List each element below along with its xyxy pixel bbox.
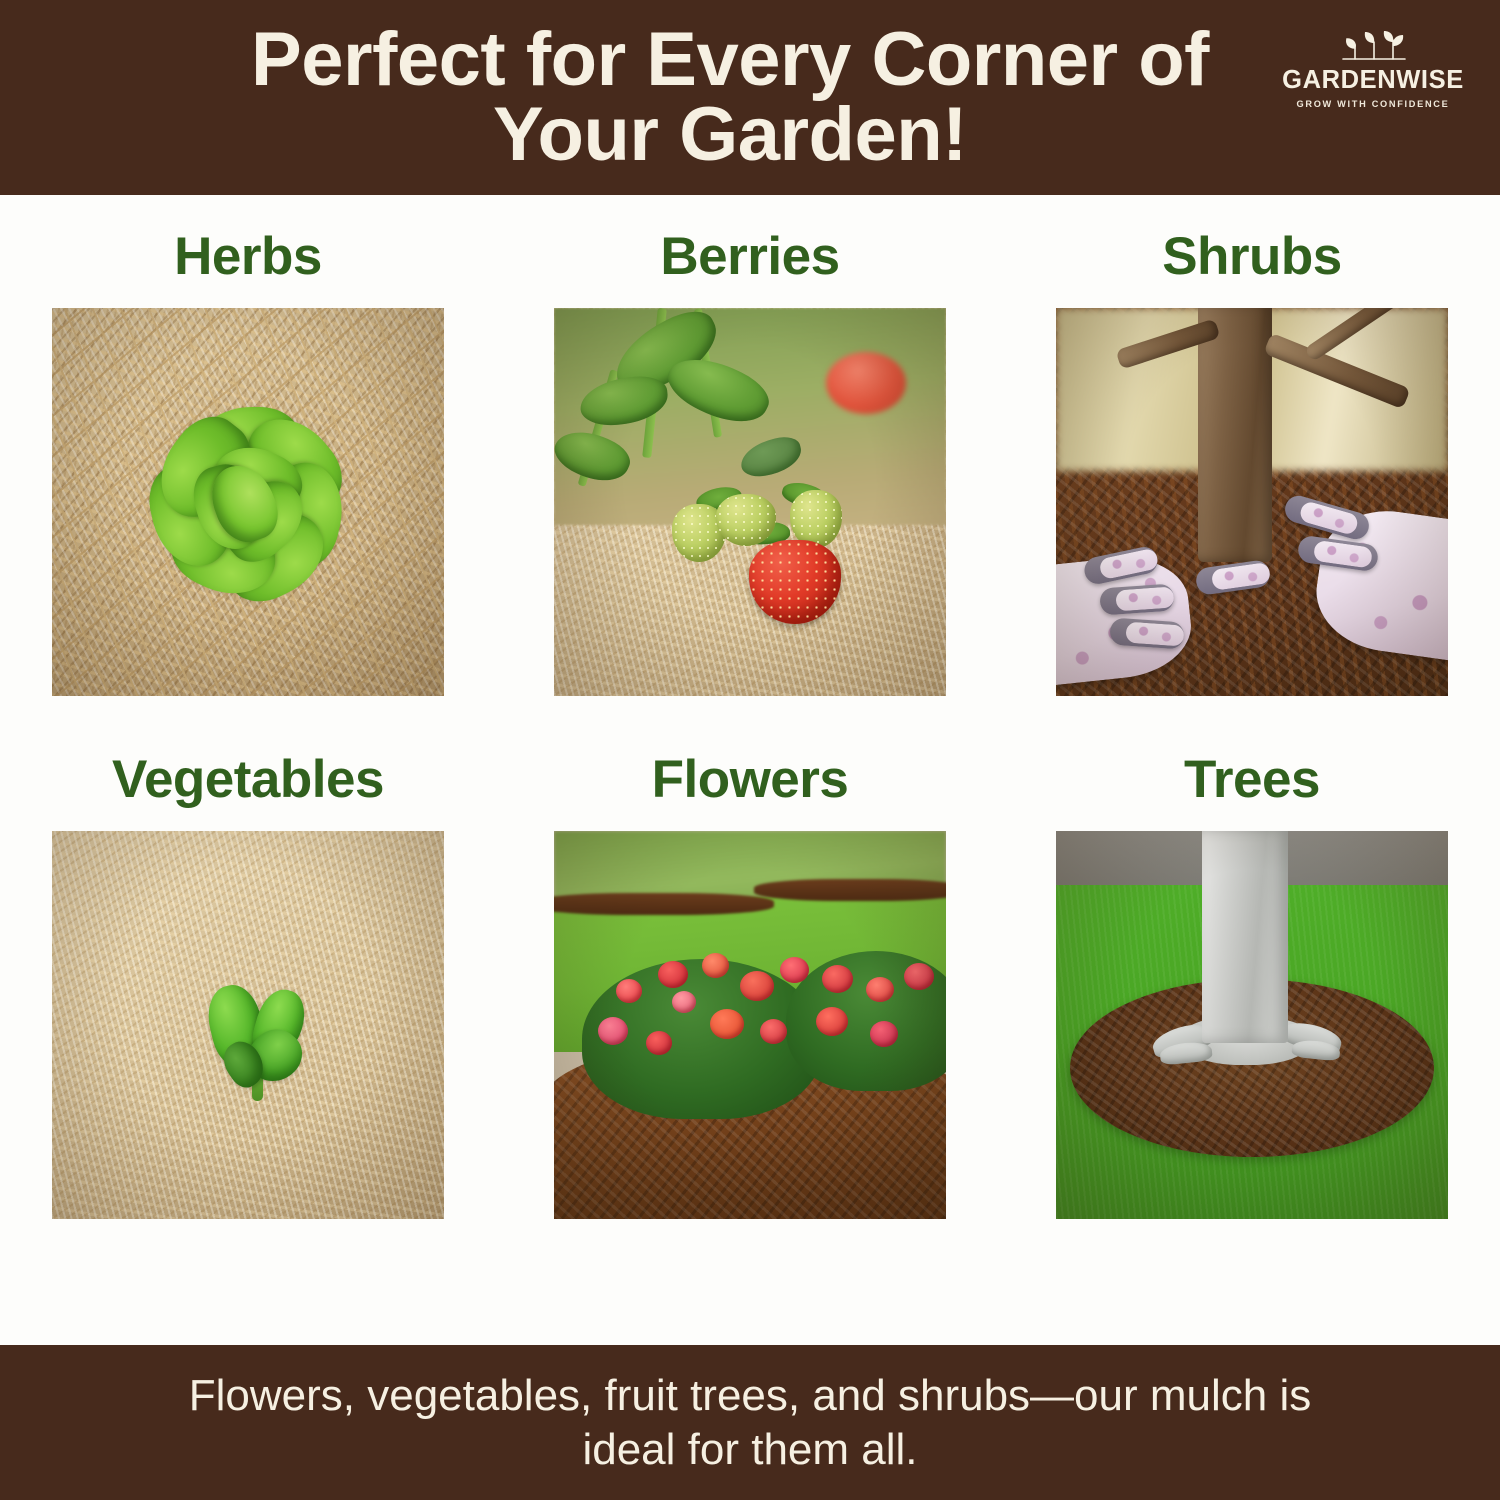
category-label: Vegetables (52, 753, 444, 806)
category-label: Flowers (554, 753, 946, 806)
category-card-shrubs: Shrubs (1056, 230, 1448, 696)
logo-wordmark: GARDENWISE (1282, 68, 1464, 94)
category-photo-vegetables (52, 831, 444, 1219)
category-label: Herbs (52, 230, 444, 283)
three-sprouts-icon (1313, 26, 1433, 66)
category-photo-shrubs (1056, 308, 1448, 696)
category-photo-flowers (554, 831, 946, 1219)
category-photo-herbs (52, 308, 444, 696)
footer-banner: Flowers, vegetables, fruit trees, and sh… (0, 1345, 1500, 1500)
category-card-herbs: Herbs (52, 230, 444, 696)
category-card-berries: Berries (554, 230, 946, 696)
category-card-vegetables: Vegetables (52, 753, 444, 1219)
category-label: Trees (1056, 753, 1448, 806)
logo-tagline: GROW WITH CONFIDENCE (1297, 99, 1450, 109)
brand-logo: GARDENWISE GROW WITH CONFIDENCE (1268, 26, 1478, 116)
footer-tagline: Flowers, vegetables, fruit trees, and sh… (90, 1369, 1410, 1476)
photo-vignette (1056, 308, 1448, 696)
category-label: Shrubs (1056, 230, 1448, 283)
category-row: Vegetables Flowers (52, 753, 1448, 1219)
photo-vignette (554, 831, 946, 1219)
page-title: Perfect for Every Corner of Your Garden! (190, 23, 1310, 172)
category-card-trees: Trees (1056, 753, 1448, 1219)
photo-vignette (52, 831, 444, 1219)
category-photo-trees (1056, 831, 1448, 1219)
promo-infographic: Perfect for Every Corner of Your Garden!… (0, 0, 1500, 1500)
category-card-flowers: Flowers (554, 753, 946, 1219)
category-photo-berries (554, 308, 946, 696)
photo-vignette (1056, 831, 1448, 1219)
category-grid: Herbs Berries (52, 230, 1448, 1219)
photo-vignette (52, 308, 444, 696)
category-label: Berries (554, 230, 946, 283)
photo-vignette (554, 308, 946, 696)
category-row: Herbs Berries (52, 230, 1448, 696)
header-banner: Perfect for Every Corner of Your Garden!… (0, 0, 1500, 195)
